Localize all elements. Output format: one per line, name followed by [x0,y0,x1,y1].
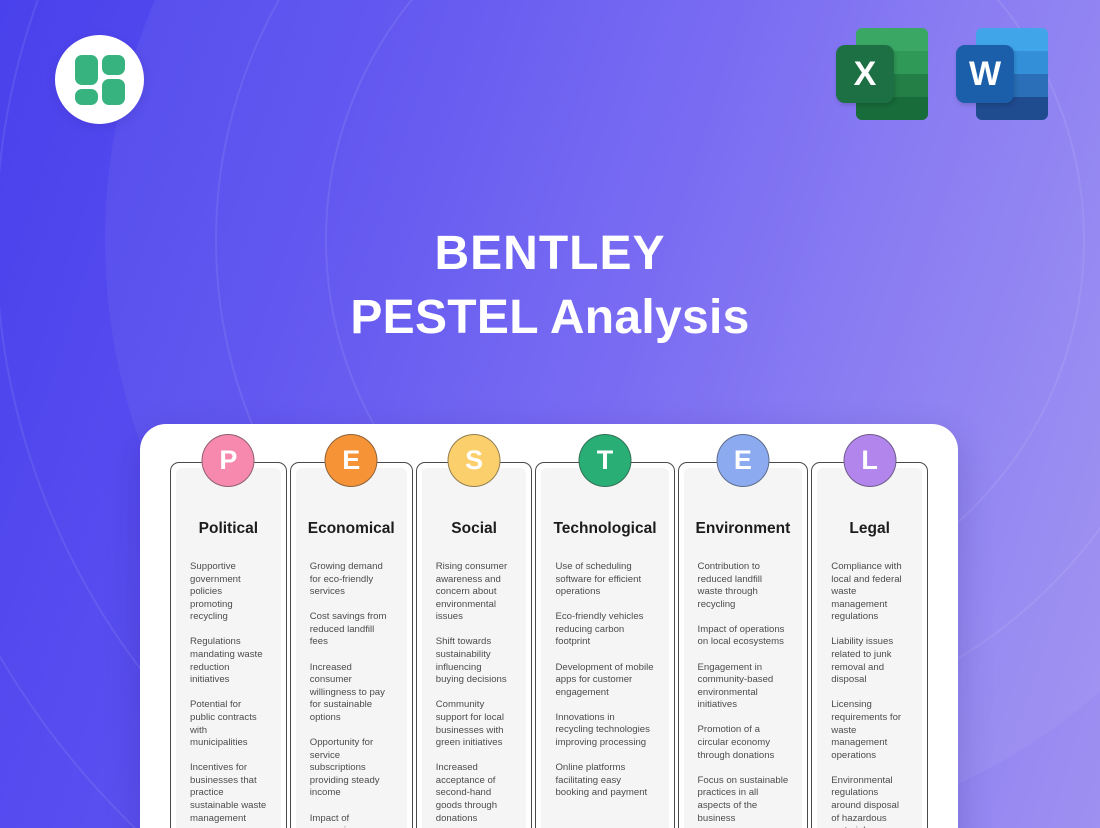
column-title: Political [188,520,269,538]
column-title: Technological [553,520,656,538]
point-item: Potential for public contracts with muni… [190,699,267,749]
column-body: Social Rising consumer awareness and con… [422,468,527,828]
pestel-column-technological[interactable]: T Technological Use of scheduling softwa… [535,462,674,828]
column-points: Compliance with local and federal waste … [829,561,910,828]
column-points: Contribution to reduced landfill waste t… [696,561,791,825]
pestel-column-social[interactable]: S Social Rising consumer awareness and c… [416,462,533,828]
column-title: Legal [829,520,910,538]
dashboard-grid-icon [75,55,125,105]
pestel-column-legal[interactable]: L Legal Compliance with local and federa… [811,462,928,828]
point-item: Opportunity for service subscriptions pr… [310,737,393,800]
pestel-column-environment[interactable]: E Environment Contribution to reduced la… [678,462,809,828]
point-item: Compliance with local and federal waste … [831,561,908,624]
point-item: Online platforms facilitating easy booki… [555,762,654,800]
point-item: Engagement in community-based environmen… [698,662,789,712]
point-item: Community support for local businesses w… [436,699,513,749]
office-export-icons: X W [836,28,1048,120]
company-name: BENTLEY [0,222,1100,286]
column-body: Political Supportive government policies… [176,468,281,828]
letter-badge-p: P [202,434,255,487]
point-item: Development of mobile apps for customer … [555,662,654,700]
page-title: BENTLEY PESTEL Analysis [0,222,1100,350]
point-item: Growing demand for eco-friendly services [310,561,393,599]
point-item: Contribution to reduced landfill waste t… [698,561,789,611]
column-points: Use of scheduling software for efficient… [553,561,656,800]
column-body: Technological Use of scheduling software… [541,468,668,828]
point-item: Cost savings from reduced landfill fees [310,611,393,649]
point-item: Increased acceptance of second-hand good… [436,762,513,825]
point-item: Innovations in recycling technologies im… [555,712,654,750]
analysis-title: PESTEL Analysis [0,286,1100,350]
word-letter-badge: W [956,45,1014,103]
point-item: Supportive government policies promoting… [190,561,267,624]
column-body: Environment Contribution to reduced land… [684,468,803,828]
point-item: Liability issues related to junk removal… [831,636,908,686]
point-item: Impact of economic downturns on disposab… [310,813,393,828]
point-item: Impact of operations on local ecosystems [698,624,789,649]
excel-icon[interactable]: X [836,28,928,120]
point-item: Focus on sustainable practices in all as… [698,775,789,825]
column-points: Rising consumer awareness and concern ab… [434,561,515,828]
pestel-columns: P Political Supportive government polici… [170,462,928,828]
poster-canvas: X W BENTLEY PESTEL Analysis P Political … [0,0,1100,828]
word-icon[interactable]: W [956,28,1048,120]
column-body: Economical Growing demand for eco-friend… [296,468,407,828]
column-body: Legal Compliance with local and federal … [817,468,922,828]
letter-badge-s: S [448,434,501,487]
column-title: Environment [696,520,791,538]
point-item: Licensing requirements for waste managem… [831,699,908,762]
point-item: Eco-friendly vehicles reducing carbon fo… [555,611,654,649]
pestel-column-economical[interactable]: E Economical Growing demand for eco-frie… [290,462,413,828]
point-item: Shift towards sustainability influencing… [436,636,513,686]
point-item: Increased consumer willingness to pay fo… [310,662,393,725]
point-item: Rising consumer awareness and concern ab… [436,561,513,624]
letter-badge-l: L [843,434,896,487]
point-item: Environmental regulations around disposa… [831,775,908,828]
column-points: Supportive government policies promoting… [188,561,269,828]
pestel-board: P Political Supportive government polici… [140,424,958,828]
letter-badge-e2: E [716,434,769,487]
pestel-column-political[interactable]: P Political Supportive government polici… [170,462,287,828]
letter-badge-e1: E [325,434,378,487]
point-item: Promotion of a circular economy through … [698,724,789,762]
excel-letter-badge: X [836,45,894,103]
column-points: Growing demand for eco-friendly services… [308,561,395,828]
brand-logo [55,35,144,124]
point-item: Use of scheduling software for efficient… [555,561,654,599]
column-title: Economical [308,520,395,538]
column-title: Social [434,520,515,538]
point-item: Regulations mandating waste reduction in… [190,636,267,686]
letter-badge-t: T [579,434,632,487]
point-item: Incentives for businesses that practice … [190,762,267,825]
